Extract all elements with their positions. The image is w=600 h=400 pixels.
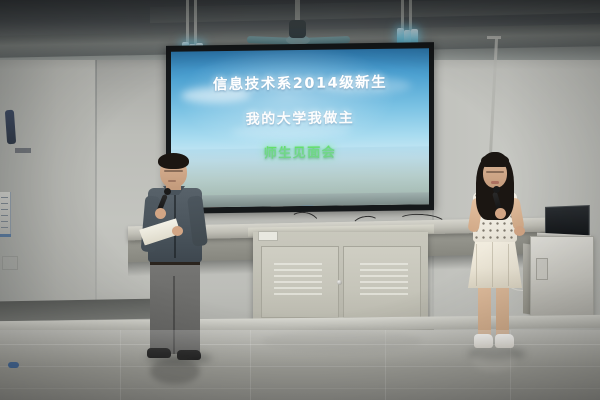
floor-reflection-male-host	[150, 358, 200, 384]
female-host-skirt-pleat	[476, 244, 477, 286]
slide-group-photo	[171, 146, 429, 208]
console-name-plate	[258, 231, 278, 241]
female-host-shoe-right	[495, 334, 514, 348]
ceiling-fan-motor	[289, 20, 306, 38]
photograph-lecture-hall-stage: 信息技术系2014级新生 我的大学我做主 师生见面会	[0, 0, 600, 400]
cabinet-door-left[interactable]	[261, 246, 339, 318]
female-host-skirt-pleat	[492, 242, 493, 287]
male-host-microphone-head	[164, 188, 171, 195]
wall-label-plate	[15, 148, 31, 153]
lamp-rod	[194, 0, 197, 46]
female-host-hair-fringe	[481, 154, 509, 167]
cabinet-door-right[interactable]	[343, 246, 421, 318]
female-host-microphone-head	[493, 186, 500, 193]
slide-heading-line2: 我的大学我做主	[171, 106, 429, 130]
lamp-rod	[409, 0, 412, 32]
floor-reflection-female-host	[472, 348, 516, 372]
female-host-skirt-pleat	[508, 244, 509, 286]
wall-switch-panel	[0, 192, 11, 234]
curtain-rod-bracket	[487, 36, 501, 39]
wall-corner-left	[95, 40, 97, 340]
male-host-mouth	[168, 180, 176, 182]
stage-step-shadow	[0, 299, 160, 322]
lamp-rod	[401, 0, 404, 30]
male-host-trousers	[150, 262, 200, 354]
female-host-eyes	[486, 171, 504, 173]
female-host-hand-left	[514, 226, 525, 236]
floor-small-object	[8, 362, 19, 368]
male-host-eyes	[164, 170, 183, 172]
female-host-shoe-left	[474, 334, 493, 348]
female-host-mouth	[491, 181, 499, 184]
male-host-hand-mic	[155, 208, 166, 219]
control-console-cabinet[interactable]	[253, 232, 428, 328]
projection-screen-frame: 信息技术系2014级新生 我的大学我做主 师生见面会	[166, 42, 434, 214]
left-wall	[0, 42, 96, 342]
male-host-shoe-left	[147, 348, 171, 358]
slide-heading-line1: 信息技术系2014级新生	[171, 70, 429, 95]
floor-reflection-lectern	[262, 330, 422, 352]
male-host-hand-paper	[172, 226, 183, 236]
equipment-cart-slot	[536, 258, 548, 280]
wall-outlet-box	[2, 256, 18, 270]
male-host-hair	[158, 153, 189, 169]
slide-photo-ledge	[171, 192, 429, 208]
female-host-hand-mic	[495, 208, 506, 219]
male-host-trouser-seam	[173, 276, 175, 354]
lamp-rod	[186, 0, 189, 44]
wall-panel-accent	[0, 234, 11, 237]
cabinet-door-knob[interactable]	[337, 280, 342, 285]
projection-screen: 信息技术系2014级新生 我的大学我做主 师生见面会	[171, 48, 429, 208]
